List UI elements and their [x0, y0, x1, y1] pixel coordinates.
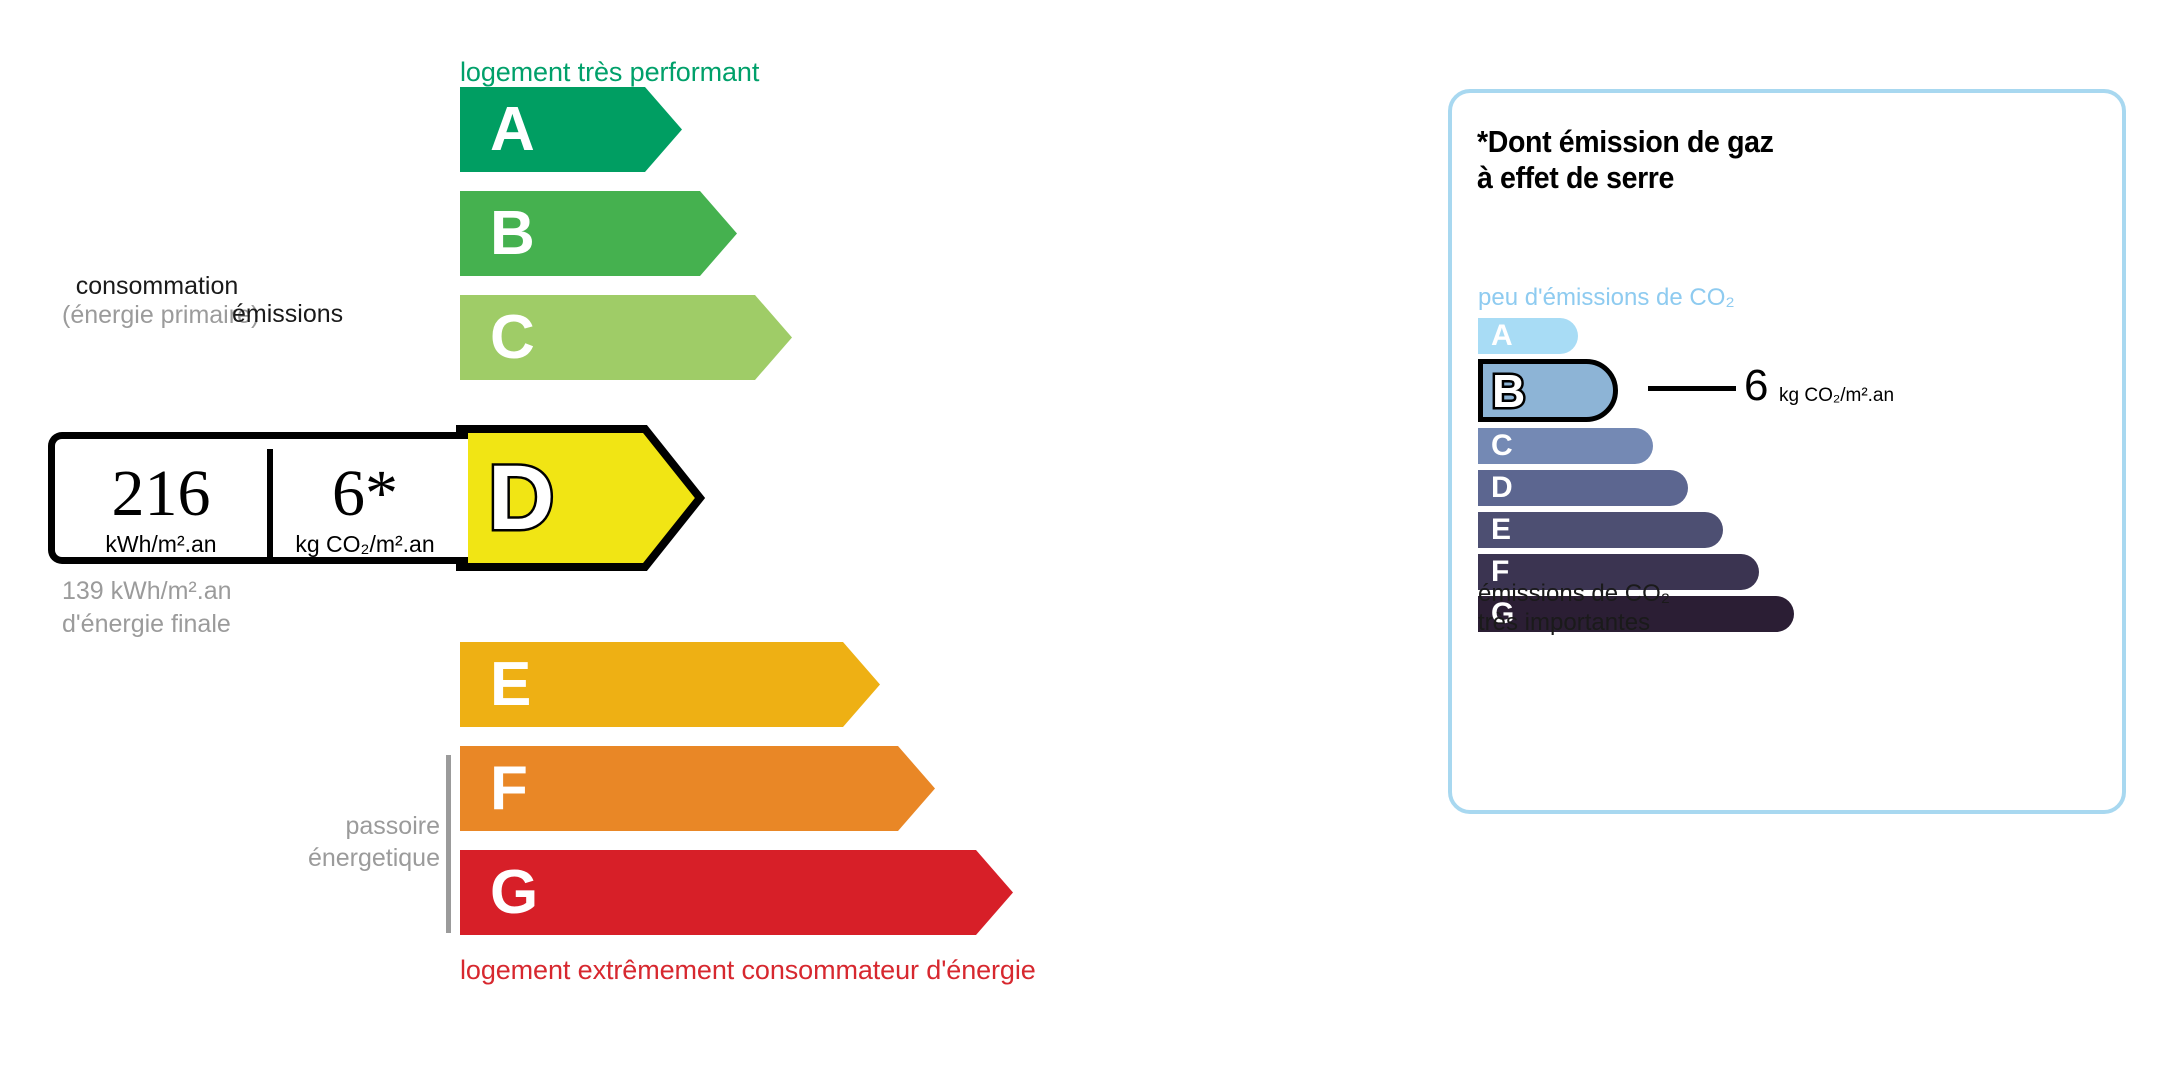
energy-performance-scale: logement très performant A B C: [0, 0, 1400, 1079]
co2-panel-title-line1: *Dont émission de gaz: [1477, 124, 1774, 160]
co2-class-letter-a: A: [1491, 321, 1513, 351]
co2-value: 6: [1744, 364, 1768, 408]
co2-class-row-d[interactable]: D: [1478, 470, 1688, 506]
value-box-divider: [267, 449, 273, 561]
consumption-header-main: consommation: [76, 272, 239, 300]
emission-unit: kg CO₂/m².an: [274, 533, 456, 556]
consumption-header-label: consommation (énergie primaire): [62, 272, 252, 330]
energy-class-row-g[interactable]: G: [460, 850, 1013, 935]
co2-panel-title-line2: à effet de serre: [1477, 160, 1774, 196]
emission-value-cell: 6* kg CO₂/m².an: [274, 439, 456, 557]
emission-value: 6*: [274, 461, 456, 527]
passoire-label: passoire énergetique: [210, 810, 440, 874]
energy-class-letter-c: C: [490, 307, 535, 369]
co2-class-letter-e: E: [1491, 515, 1511, 545]
co2-top-label: peu d'émissions de CO₂: [1478, 284, 1735, 312]
energy-class-letter-d: D: [488, 452, 554, 544]
energy-class-letter-g: G: [490, 862, 538, 924]
energy-class-row-e[interactable]: E: [460, 642, 880, 727]
consumption-value-cell: 216 kWh/m².an: [55, 439, 267, 557]
co2-emissions-panel: *Dont émission de gaz à effet de serre p…: [1448, 89, 2126, 814]
passoire-indicator-bar: [446, 755, 451, 933]
scale-top-label: logement très performant: [460, 57, 759, 88]
energy-class-row-f[interactable]: F: [460, 746, 935, 831]
energy-class-row-c[interactable]: C: [460, 295, 792, 380]
co2-class-letter-d: D: [1491, 473, 1513, 503]
energy-class-letter-a: A: [490, 99, 535, 161]
co2-class-row-a[interactable]: A: [1478, 318, 1578, 354]
co2-bottom-label-line1: émissions de CO₂: [1478, 579, 1670, 608]
passoire-label-line2: énergetique: [210, 842, 440, 874]
passoire-label-line1: passoire: [210, 810, 440, 842]
energy-class-letter-f: F: [490, 758, 528, 820]
consumption-header-sub: (énergie primaire): [62, 301, 252, 330]
final-energy-note: 139 kWh/m².an d'énergie finale: [62, 575, 232, 640]
final-energy-line2: d'énergie finale: [62, 608, 232, 641]
co2-panel-title: *Dont émission de gaz à effet de serre: [1477, 124, 1774, 197]
energy-class-row-a[interactable]: A: [460, 87, 682, 172]
energy-class-arrow-f: [460, 746, 935, 831]
co2-leader-line: [1648, 386, 1736, 391]
energy-values-box: 216 kWh/m².an 6* kg CO₂/m².an: [48, 432, 468, 564]
co2-class-row-b[interactable]: B: [1478, 359, 1618, 422]
co2-class-row-c[interactable]: C: [1478, 428, 1653, 464]
co2-class-row-e[interactable]: E: [1478, 512, 1723, 548]
co2-class-bar-e: [1478, 512, 1723, 548]
energy-class-row-d[interactable]: D: [460, 429, 700, 567]
emission-header-label: émissions: [232, 300, 343, 329]
final-energy-line1: 139 kWh/m².an: [62, 575, 232, 608]
energy-class-row-b[interactable]: B: [460, 191, 737, 276]
co2-class-letter-b: B: [1492, 368, 1525, 414]
energy-class-letter-e: E: [490, 654, 531, 716]
consumption-unit: kWh/m².an: [55, 533, 267, 556]
scale-bottom-label: logement extrêmement consommateur d'éner…: [460, 955, 1036, 986]
co2-value-unit: kg CO₂/m².an: [1779, 386, 1894, 405]
energy-class-arrow-g: [460, 850, 1013, 935]
co2-class-letter-c: C: [1491, 431, 1513, 461]
energy-class-letter-b: B: [490, 203, 535, 265]
consumption-value: 216: [55, 461, 267, 527]
co2-bottom-label: émissions de CO₂ très importantes: [1478, 579, 1670, 638]
co2-bottom-label-line2: très importantes: [1478, 608, 1670, 637]
